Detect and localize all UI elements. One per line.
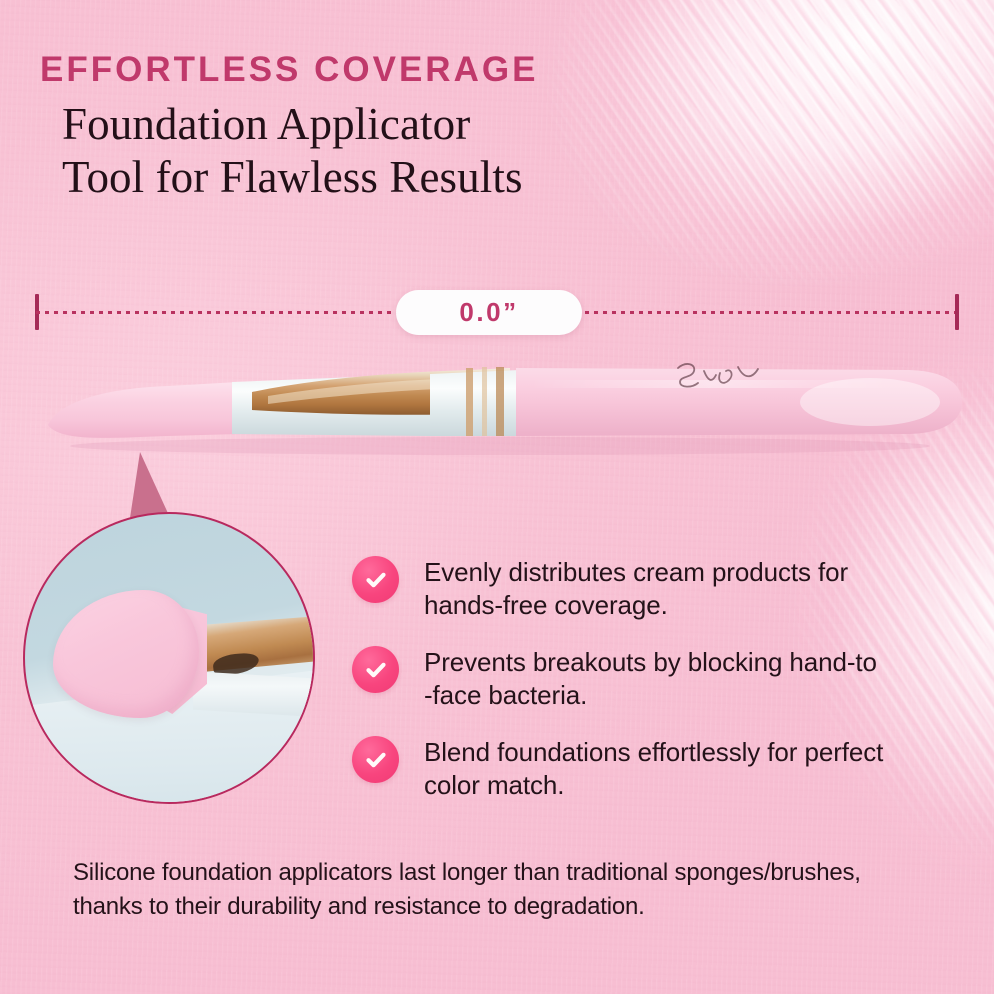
- detail-metal-shaft: [193, 614, 315, 678]
- measurement-badge: 0.0”: [396, 290, 582, 335]
- check-circle-icon: [352, 736, 399, 783]
- check-circle-icon: [352, 556, 399, 603]
- benefit-item: Prevents breakouts by blocking hand-to -…: [352, 644, 952, 712]
- footer-description: Silicone foundation applicators last lon…: [73, 856, 933, 924]
- measure-tick-right: [955, 294, 959, 330]
- page-title: Foundation Applicator Tool for Flawless …: [62, 98, 523, 204]
- check-mark-icon: [363, 747, 389, 773]
- silicone-tip: [48, 382, 238, 438]
- detail-silicone-tip: [53, 590, 199, 718]
- check-mark-icon: [363, 657, 389, 683]
- benefit-text: Evenly distributes cream products for ha…: [424, 554, 848, 622]
- benefit-item: Blend foundations effortlessly for perfe…: [352, 734, 952, 802]
- magnified-tip-detail: [23, 512, 315, 804]
- eyebrow-heading: EFFORTLESS COVERAGE: [40, 50, 538, 90]
- check-circle-icon: [352, 646, 399, 693]
- measurement-value: 0.0”: [459, 297, 518, 328]
- benefits-list: Evenly distributes cream products for ha…: [352, 554, 952, 824]
- benefit-text: Prevents breakouts by blocking hand-to -…: [424, 644, 877, 712]
- benefit-item: Evenly distributes cream products for ha…: [352, 554, 952, 622]
- product-infographic: EFFORTLESS COVERAGE Foundation Applicato…: [0, 0, 994, 994]
- check-mark-icon: [363, 567, 389, 593]
- applicator-tool-image: [0, 330, 994, 470]
- benefit-text: Blend foundations effortlessly for perfe…: [424, 734, 883, 802]
